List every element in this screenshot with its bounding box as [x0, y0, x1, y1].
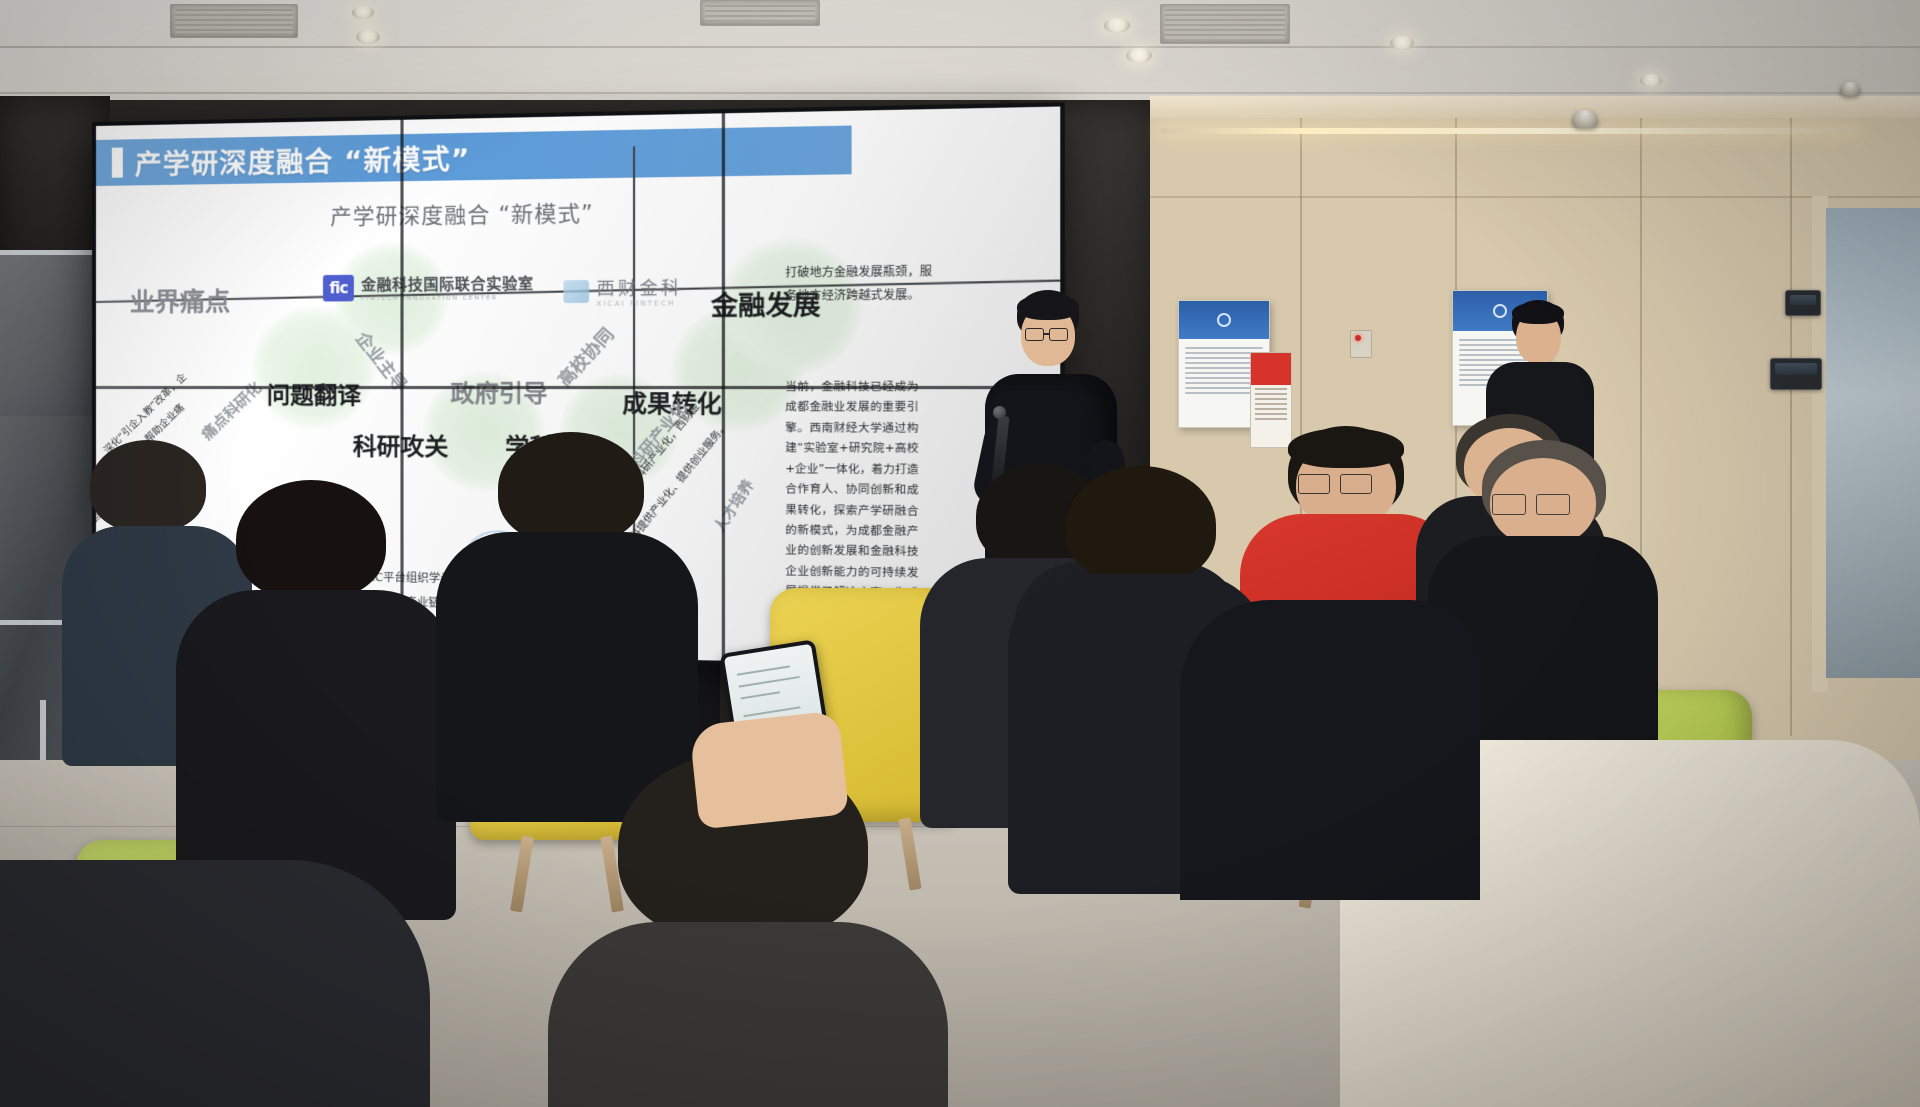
display-bezel — [96, 386, 1060, 389]
audience-member — [436, 432, 698, 792]
audience-torso — [548, 922, 948, 1107]
microphone-head-icon — [993, 406, 1006, 419]
xicai-logo-title: 西财金科 — [597, 273, 683, 300]
audience-member — [176, 480, 456, 900]
notice-header — [1251, 353, 1291, 385]
ceiling-vent — [1160, 4, 1290, 44]
fic-lab-logo: fic 金融科技国际联合实验室 FINTECH INNOVATION CENTE… — [323, 272, 534, 302]
poster-header — [1179, 301, 1269, 339]
slide-banner: 产学研深度融合 “新模式” — [96, 126, 852, 186]
ceiling-downlight — [352, 6, 374, 19]
screenshot-root: 产学研深度融合 “新模式” 产学研深度融合 “新模式” fic 金融科技国际联合… — [0, 0, 1920, 1107]
xicai-logo-subtitle: XICAI FINTECH — [597, 299, 683, 308]
ceiling-downlight — [1104, 18, 1130, 33]
wood-wall-seam — [1790, 96, 1792, 736]
audience-hair-front — [1288, 428, 1404, 468]
security-camera-icon — [1840, 82, 1860, 96]
fic-logo-subtitle: FINTECH INNOVATION CENTER — [361, 294, 534, 302]
wall-control-panel[interactable] — [1770, 358, 1822, 390]
ceiling-downlight — [356, 30, 380, 44]
audience-member-foreground — [0, 860, 430, 1107]
glasses-right-lens-icon — [1536, 494, 1570, 515]
audience-torso — [1180, 600, 1480, 900]
fic-logo-title: 金融科技国际联合实验室 — [361, 272, 534, 295]
glasses-bridge-icon — [1044, 333, 1049, 335]
ceiling-seam — [0, 92, 1920, 94]
glasses-right-lens-icon — [1340, 474, 1372, 494]
presenter-hair-front — [1017, 294, 1079, 320]
ceiling-seam — [0, 46, 1920, 48]
slide-subtitle: 产学研深度融合 “新模式” — [330, 197, 594, 231]
audience-hair — [498, 432, 644, 544]
note-right-line-1: 打破地方金融发展瓶颈，服 — [785, 262, 932, 283]
xicai-fintech-logo: 西财金科 XICAI FINTECH — [563, 273, 682, 308]
led-light-strip — [1160, 128, 1860, 134]
phone-content-line — [739, 676, 801, 688]
note-right-line-2: 务地方经济跨越式发展。 — [785, 286, 919, 307]
fic-logo-mark-icon: fic — [323, 275, 354, 302]
audience-hair — [1066, 466, 1216, 584]
glasses-left-lens-icon — [1492, 494, 1526, 515]
slide-banner-title: 产学研深度融合 “新模式” — [135, 136, 471, 181]
axis-label-left: 业界痛点 — [130, 282, 230, 319]
attendee-hair-front — [1512, 302, 1564, 324]
fire-alarm-box[interactable] — [1350, 330, 1372, 358]
alarm-indicator-icon — [1355, 335, 1361, 341]
audience-hair — [236, 480, 386, 600]
security-camera-icon — [1572, 110, 1598, 128]
wall-control-panel[interactable] — [1785, 290, 1821, 316]
node-problem-translation: 问题翻译 — [267, 376, 361, 411]
wood-wall-seam — [1150, 196, 1920, 198]
audience-torso — [0, 860, 430, 1107]
ceiling-downlight — [1390, 36, 1414, 50]
audience-member-foreground — [1180, 600, 1480, 900]
doorway — [1826, 208, 1920, 678]
rot-label-talent-training: 人才培养 — [708, 475, 759, 536]
hand-holding-phone — [689, 710, 849, 829]
wood-trim — [1150, 96, 1920, 118]
banner-accent-bar — [112, 148, 123, 178]
xicai-logo-mark-icon — [563, 280, 589, 303]
phone-content-line — [737, 665, 791, 675]
ceiling-downlight — [1126, 48, 1152, 63]
glasses-left-lens-icon — [1025, 328, 1044, 341]
poster-seal-icon — [1217, 313, 1231, 327]
ceiling-vent — [170, 4, 298, 38]
phone-content-line — [740, 691, 780, 699]
ceiling-vent — [700, 0, 820, 26]
glasses-right-lens-icon — [1049, 328, 1068, 341]
ceiling-downlight — [1640, 74, 1662, 87]
glasses-left-lens-icon — [1298, 474, 1330, 494]
node-government-guidance: 政府引导 — [450, 374, 547, 409]
